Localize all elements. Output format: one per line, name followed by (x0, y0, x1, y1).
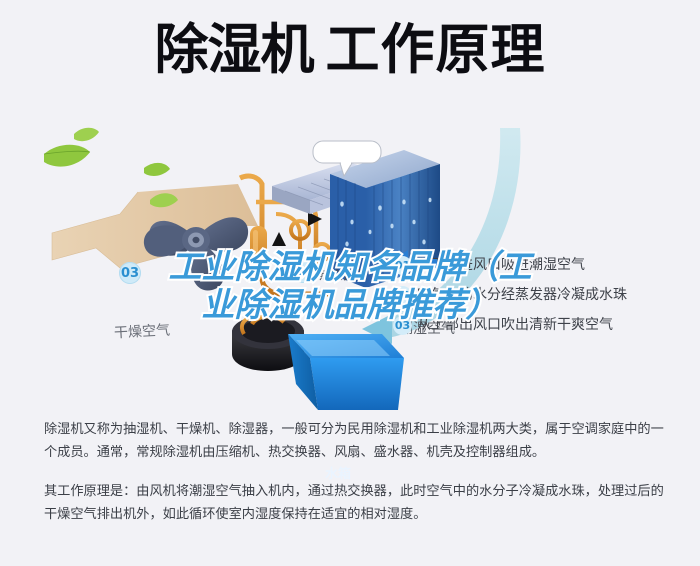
diagram-legend: 01 从下部进风口吸进潮湿空气 02 空气中的水分经蒸发器冷凝成水珠 03 从上… (393, 256, 693, 346)
page-title-part2: 工作原理 (326, 18, 546, 81)
legend-badge-02: 02 (393, 286, 412, 305)
body-paragraph-1: 除湿机又称为抽湿机、干燥机、除湿器，一般可分为民用除湿机和工业除湿机两大类，属于… (44, 418, 664, 464)
page-root: 除湿机工作原理 (0, 0, 700, 566)
legend-item: 03 从上部出风口吹出清新干爽空气 (393, 316, 693, 337)
legend-badge-01: 01 (393, 256, 412, 275)
legend-item: 01 从下部进风口吸进潮湿空气 (393, 256, 693, 277)
body-paragraph-2: 其工作原理是：由风机将潮湿空气抽入机内，通过热交换器，此时空气中的水分子冷凝成水… (44, 480, 664, 526)
article-body: 除湿机又称为抽湿机、干燥机、除湿器，一般可分为民用除湿机和工业除湿机两大类，属于… (44, 418, 664, 526)
page-title: 除湿机工作原理 (0, 22, 700, 79)
fan-blades (144, 217, 248, 290)
legend-text-03: 从上部出风口吹出清新干爽空气 (417, 316, 613, 335)
legend-text-02: 空气中的水分经蒸发器冷凝成水珠 (417, 286, 627, 305)
legend-item: 02 空气中的水分经蒸发器冷凝成水珠 (393, 286, 693, 307)
diagram-badge-03: 03 (119, 262, 141, 284)
legend-badge-03: 03 (393, 316, 412, 335)
water-tank (288, 334, 404, 410)
page-title-part1: 除湿机 (155, 18, 314, 81)
legend-text-01: 从下部进风口吸进潮湿空气 (417, 256, 585, 275)
leaf-decorations (44, 128, 178, 208)
accumulator-cylinder (250, 226, 267, 278)
diagram-badge-02: 02 (292, 261, 314, 283)
